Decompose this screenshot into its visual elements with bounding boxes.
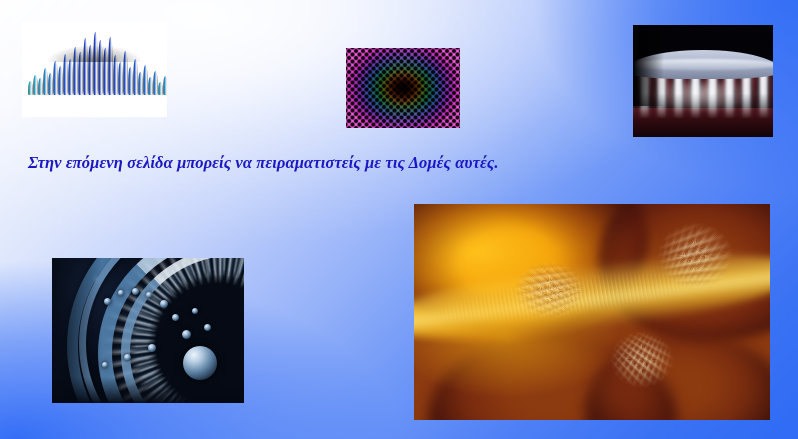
wave-ridge bbox=[118, 62, 123, 95]
fractal-plateau-landscape-image bbox=[633, 25, 773, 137]
slide-caption: Στην επόμενη σελίδα μπορείς να πειραματι… bbox=[28, 152, 648, 173]
wave-ridge bbox=[163, 76, 167, 95]
left-shadow bbox=[633, 25, 664, 106]
golden-mandelbrot-fractal-image bbox=[414, 204, 770, 420]
wave-ridge bbox=[123, 51, 128, 95]
fractal-bead bbox=[160, 300, 168, 308]
fractal-bead-large bbox=[183, 346, 217, 380]
wave-ridge bbox=[138, 72, 143, 95]
blue-wave-surface-image bbox=[22, 22, 167, 117]
fractal-bead bbox=[104, 298, 111, 305]
wave-ridge bbox=[108, 37, 113, 95]
wave-ridge bbox=[98, 40, 103, 95]
wave-ridge bbox=[148, 77, 153, 95]
fractal-bead bbox=[132, 288, 139, 295]
fractal-bead bbox=[118, 290, 124, 296]
fractal-bead bbox=[172, 314, 179, 321]
fractal-bead bbox=[204, 324, 211, 331]
gold-warm-highlight bbox=[414, 204, 770, 420]
ornate-blue-fractal-disc-image bbox=[52, 258, 244, 403]
wave-ridge bbox=[143, 65, 148, 95]
wave-surface-plot bbox=[22, 22, 167, 117]
wave-ridge bbox=[103, 48, 108, 95]
fractal-bead bbox=[102, 362, 108, 368]
fractal-bead bbox=[148, 344, 156, 352]
radial-rainbow-dots-image bbox=[346, 48, 460, 128]
wave-ridge bbox=[153, 71, 158, 95]
fractal-bead bbox=[192, 308, 198, 314]
fractal-bead bbox=[146, 292, 152, 298]
fractal-bead bbox=[182, 330, 191, 339]
wave-ridge bbox=[133, 59, 138, 95]
presentation-slide: Στην επόμενη σελίδα μπορείς να πειραματι… bbox=[0, 0, 798, 439]
wave-ridge bbox=[113, 55, 118, 95]
wave-ridge bbox=[128, 67, 133, 95]
wave-ridge bbox=[158, 82, 163, 95]
center-vignette bbox=[346, 48, 460, 128]
fractal-bead bbox=[124, 354, 131, 361]
bottom-shadow bbox=[52, 377, 244, 403]
